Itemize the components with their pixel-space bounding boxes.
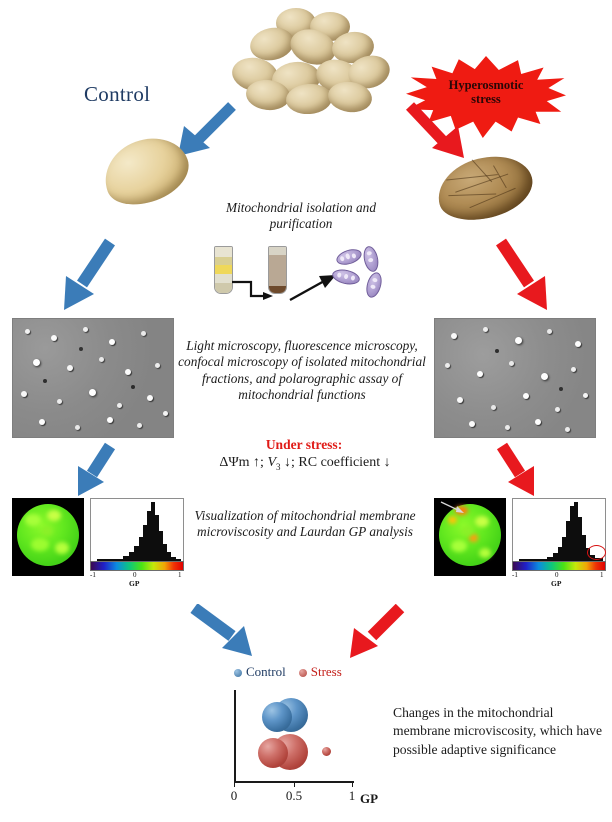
blue-arrow-to-summary-chart bbox=[188, 604, 266, 664]
colorbar-mid-label: 0 bbox=[133, 571, 137, 579]
legend-item-control: Control bbox=[234, 664, 289, 679]
legend-label-stress: Stress bbox=[311, 664, 342, 679]
red-arrow-to-stress-gp bbox=[488, 442, 548, 500]
stress-parameters-formula: ΔΨm ↑; V3 ↓; RC coefficient ↓ bbox=[180, 455, 430, 472]
red-arrow-to-summary-chart bbox=[342, 604, 412, 664]
red-arrow-to-stress-potato bbox=[400, 100, 470, 162]
burst-line-2: stress bbox=[471, 92, 501, 106]
microscopy-step-text: Light microscopy, fluorescence microscop… bbox=[178, 338, 426, 404]
conclusion-text: Changes in the mitochondrial membrane mi… bbox=[393, 704, 609, 759]
control-gp-colorbar bbox=[90, 561, 184, 571]
under-stress-heading: Under stress: bbox=[200, 437, 408, 453]
isolation-step-text: Mitochondrial isolation and purification bbox=[196, 200, 406, 233]
bubble-stress-small bbox=[322, 747, 331, 756]
y-axis bbox=[234, 690, 236, 782]
stress-microscopy-image bbox=[434, 318, 596, 438]
tube-transfer-arrow bbox=[231, 280, 275, 306]
x-tick-05 bbox=[294, 781, 295, 787]
blue-arrow-to-control-gp bbox=[64, 442, 124, 500]
control-microscopy-image bbox=[12, 318, 174, 438]
hotspot-blob bbox=[448, 516, 457, 524]
hyperosmotic-stress-label: Hyperosmotic stress bbox=[406, 56, 566, 106]
isolation-diagram bbox=[212, 246, 394, 308]
potato-pile-image bbox=[228, 6, 394, 116]
mitochondrion-icon bbox=[334, 246, 363, 267]
summary-bubble-chart: Control Stress 0 0.5 1 GP bbox=[218, 664, 393, 814]
colorbar-max-label: 1 bbox=[600, 571, 604, 579]
gp-circle bbox=[17, 504, 79, 566]
stress-gp-map bbox=[434, 498, 506, 576]
formula-psi: ΔΨm ↑; bbox=[219, 455, 267, 470]
colorbar-max-label: 1 bbox=[178, 571, 182, 579]
x-tick-label-0: 0 bbox=[224, 788, 244, 804]
colorbar-min-label: -1 bbox=[512, 571, 518, 579]
stress-gp-histogram bbox=[512, 498, 606, 562]
x-tick-1 bbox=[352, 781, 353, 787]
colorbar-axis-label: GP bbox=[551, 579, 561, 588]
legend-dot-control bbox=[234, 669, 242, 677]
legend-dot-stress bbox=[299, 669, 307, 677]
x-axis-label: GP bbox=[360, 791, 378, 807]
bubble-stress bbox=[258, 738, 288, 768]
stress-gp-colorbar bbox=[512, 561, 606, 571]
stress-histogram-annotation bbox=[587, 545, 606, 560]
colorbar-axis-label: GP bbox=[129, 579, 139, 588]
colorbar-mid-label: 0 bbox=[555, 571, 559, 579]
formula-v: V bbox=[267, 455, 276, 470]
formula-rc: ↓; RC coefficient ↓ bbox=[281, 455, 391, 470]
blue-arrow-to-control-microscopy bbox=[52, 236, 124, 316]
visualization-step-text: Visualization of mitochondrial membrane … bbox=[190, 508, 420, 541]
bubble-control bbox=[262, 702, 292, 732]
chart-legend: Control Stress bbox=[234, 664, 342, 680]
mitochondria-arrow bbox=[288, 272, 338, 302]
legend-item-stress: Stress bbox=[299, 664, 342, 679]
x-tick-label-1: 1 bbox=[342, 788, 362, 804]
x-tick-label-05: 0.5 bbox=[280, 788, 308, 804]
mitochondrion-icon bbox=[361, 245, 380, 273]
control-gp-map bbox=[12, 498, 84, 576]
legend-label-control: Control bbox=[246, 664, 286, 679]
colorbar-min-label: -1 bbox=[90, 571, 96, 579]
control-gp-histogram bbox=[90, 498, 184, 562]
hotspot-pointer-arrow bbox=[440, 500, 466, 516]
x-tick-0 bbox=[234, 781, 235, 787]
mitochondrion-icon bbox=[364, 271, 385, 300]
hotspot-blob bbox=[469, 534, 478, 542]
burst-line-1: Hyperosmotic bbox=[449, 78, 524, 92]
red-arrow-to-stress-microscopy bbox=[487, 236, 559, 316]
